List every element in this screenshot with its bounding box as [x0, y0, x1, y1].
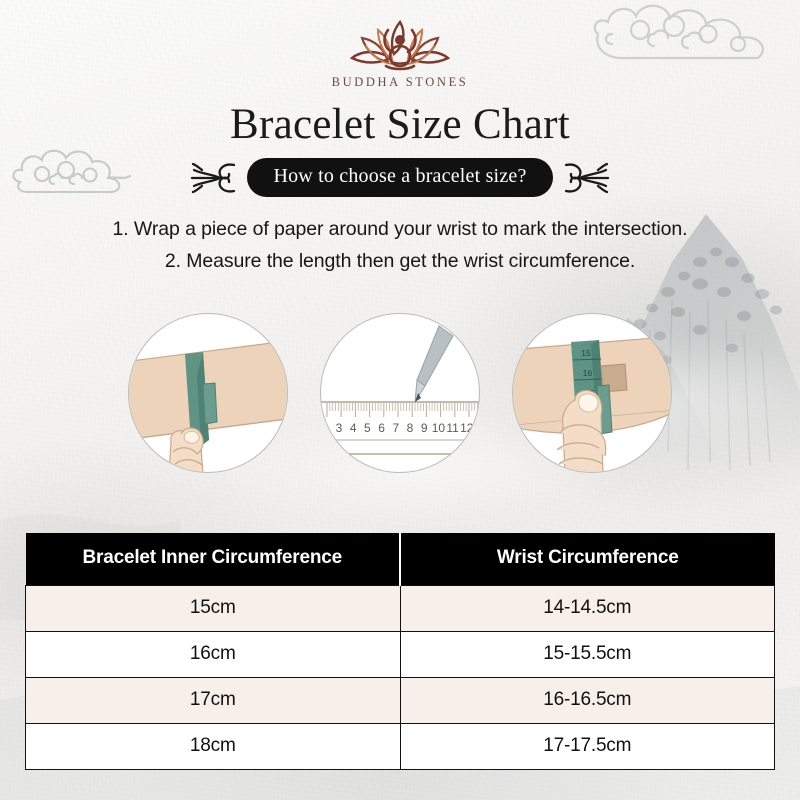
- brand-logo: BUDDHA STONES: [0, 16, 800, 90]
- subtitle-row: How to choose a bracelet size?: [0, 158, 800, 197]
- ruler-tick-label: 3: [336, 421, 343, 435]
- page-title: Bracelet Size Chart: [0, 100, 800, 149]
- ruler-tick-label: 6: [378, 421, 385, 435]
- illustration-row: 3456789101112: [0, 313, 800, 483]
- table-cell-wrist: 17-17.5cm: [400, 724, 775, 770]
- table-cell-inner: 18cm: [26, 724, 401, 770]
- instruction-step-1: 1. Wrap a piece of paper around your wri…: [0, 213, 800, 245]
- measuring-tape-wrist-icon: 15161718: [513, 314, 672, 473]
- subtitle-pill: How to choose a bracelet size?: [247, 158, 552, 197]
- table-cell-inner: 15cm: [26, 586, 401, 632]
- table-cell-wrist: 16-16.5cm: [400, 678, 775, 724]
- tape-mark-label: 16: [583, 368, 593, 378]
- flourish-swirl-left-icon: [188, 161, 236, 195]
- ruler-and-pencil-icon: 3456789101112: [321, 314, 480, 473]
- table-cell-wrist: 15-15.5cm: [400, 632, 775, 678]
- ruler-tick-label: 8: [407, 421, 414, 435]
- table-row: 15cm14-14.5cm: [26, 586, 775, 632]
- ruler-tick-label: 12: [460, 421, 474, 435]
- table-row: 17cm16-16.5cm: [26, 678, 775, 724]
- brand-name: BUDDHA STONES: [0, 75, 800, 90]
- flourish-swirl-right-icon: [564, 161, 612, 195]
- size-table: Bracelet Inner Circumference Wrist Circu…: [25, 533, 775, 770]
- ruler-tick-label: 5: [364, 421, 371, 435]
- illustration-tape-wrist: 15161718: [512, 313, 672, 473]
- ruler-tick-label: 7: [392, 421, 399, 435]
- table-header-inner-circumference: Bracelet Inner Circumference: [26, 533, 401, 586]
- table-body: 15cm14-14.5cm16cm15-15.5cm17cm16-16.5cm1…: [26, 586, 775, 770]
- table-row: 18cm17-17.5cm: [26, 724, 775, 770]
- illustration-measure-ruler: 3456789101112: [320, 313, 480, 473]
- table-cell-inner: 16cm: [26, 632, 401, 678]
- lotus-meditation-icon: [332, 16, 468, 74]
- ruler-tick-label: 4: [350, 421, 357, 435]
- table-cell-wrist: 14-14.5cm: [400, 586, 775, 632]
- tape-mark-label: 15: [581, 348, 591, 358]
- instruction-step-2: 2. Measure the length then get the wrist…: [0, 245, 800, 277]
- wrist-with-paper-strip-icon: [129, 314, 288, 473]
- table-row: 16cm15-15.5cm: [26, 632, 775, 678]
- ruler-tick-label: 9: [421, 421, 428, 435]
- instruction-steps: 1. Wrap a piece of paper around your wri…: [0, 213, 800, 277]
- illustration-wrap-paper: [128, 313, 288, 473]
- size-chart-page: BUDDHA STONES Bracelet Size Chart How to…: [0, 0, 800, 800]
- ruler-tick-label: 11: [446, 421, 459, 435]
- table-header-wrist-circumference: Wrist Circumference: [400, 533, 775, 586]
- table-header-row: Bracelet Inner Circumference Wrist Circu…: [26, 533, 775, 586]
- table-cell-inner: 17cm: [26, 678, 401, 724]
- ruler-tick-label: 10: [432, 421, 446, 435]
